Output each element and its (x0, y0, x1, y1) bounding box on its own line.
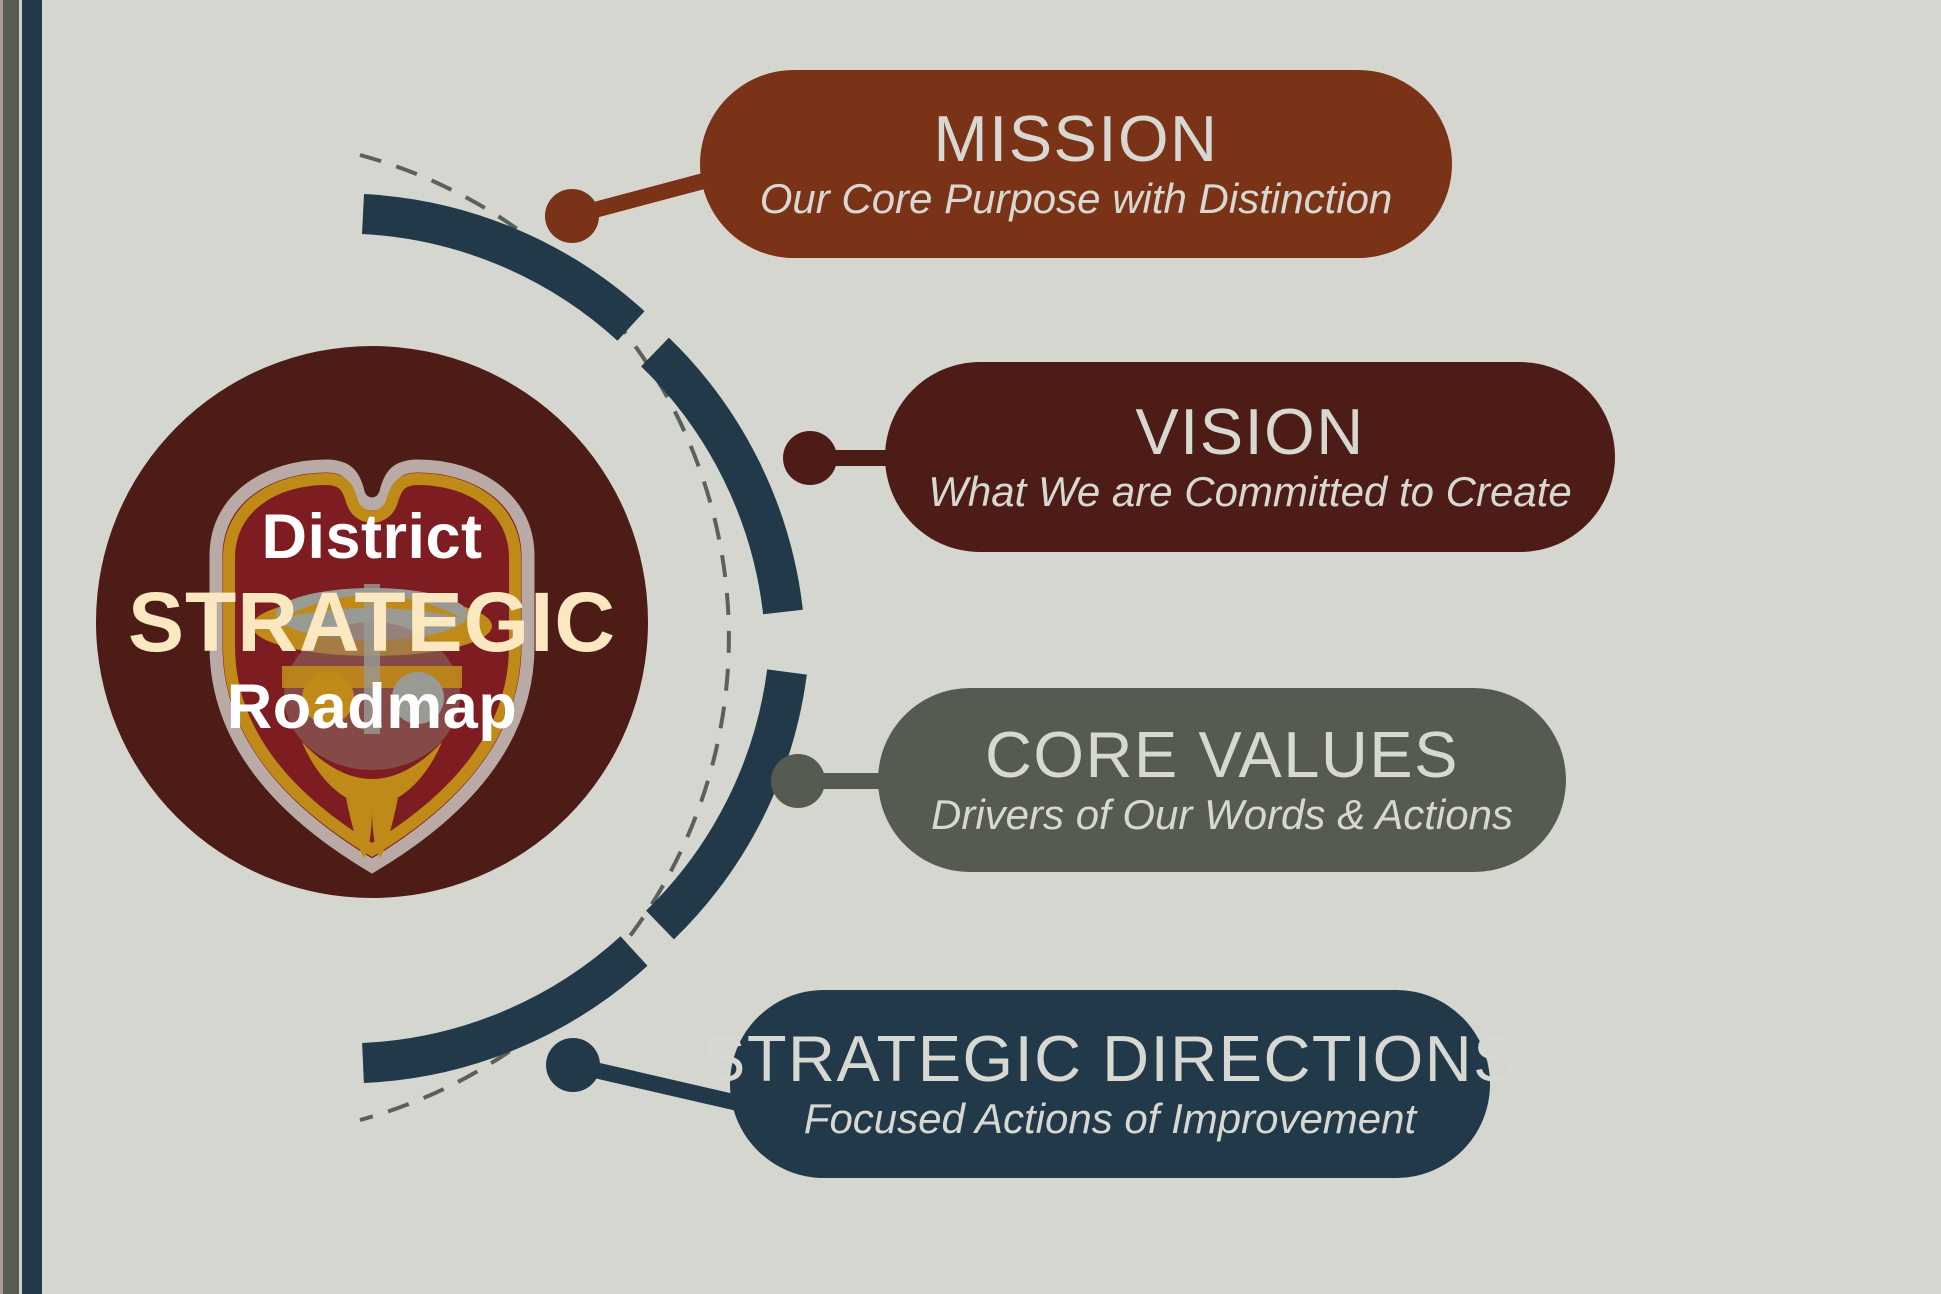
edge-stripe-green (3, 0, 19, 1294)
connector-dot-mission (545, 189, 599, 243)
strategic-roadmap-diagram: District STRATEGIC Roadmap MISSION Our C… (0, 0, 1941, 1294)
node-strategic-directions[interactable]: STRATEGIC DIRECTIONS Focused Actions of … (730, 990, 1490, 1178)
center-title-line1: District (261, 504, 482, 571)
node-vision-subtitle: What We are Committed to Create (928, 469, 1571, 515)
center-title-block: District STRATEGIC Roadmap (96, 346, 648, 898)
node-vision-title: VISION (1135, 399, 1364, 465)
center-title-line2: STRATEGIC (128, 578, 616, 667)
center-title-line3: Roadmap (227, 674, 518, 741)
connector-dot-vision (783, 431, 837, 485)
node-mission[interactable]: MISSION Our Core Purpose with Distinctio… (700, 70, 1452, 258)
edge-stripe-navy (22, 0, 42, 1294)
node-vision[interactable]: VISION What We are Committed to Create (885, 362, 1615, 552)
node-core-values-title: CORE VALUES (985, 722, 1459, 788)
connector-dot-core-values (771, 754, 825, 808)
node-core-values-subtitle: Drivers of Our Words & Actions (931, 792, 1513, 838)
node-core-values[interactable]: CORE VALUES Drivers of Our Words & Actio… (878, 688, 1566, 872)
node-mission-subtitle: Our Core Purpose with Distinction (760, 176, 1393, 222)
node-mission-title: MISSION (934, 106, 1219, 172)
connector-dot-strategic-directions (546, 1038, 600, 1092)
center-circle: District STRATEGIC Roadmap (96, 346, 648, 898)
node-strategic-directions-subtitle: Focused Actions of Improvement (804, 1096, 1416, 1142)
node-strategic-directions-title: STRATEGIC DIRECTIONS (702, 1026, 1518, 1092)
